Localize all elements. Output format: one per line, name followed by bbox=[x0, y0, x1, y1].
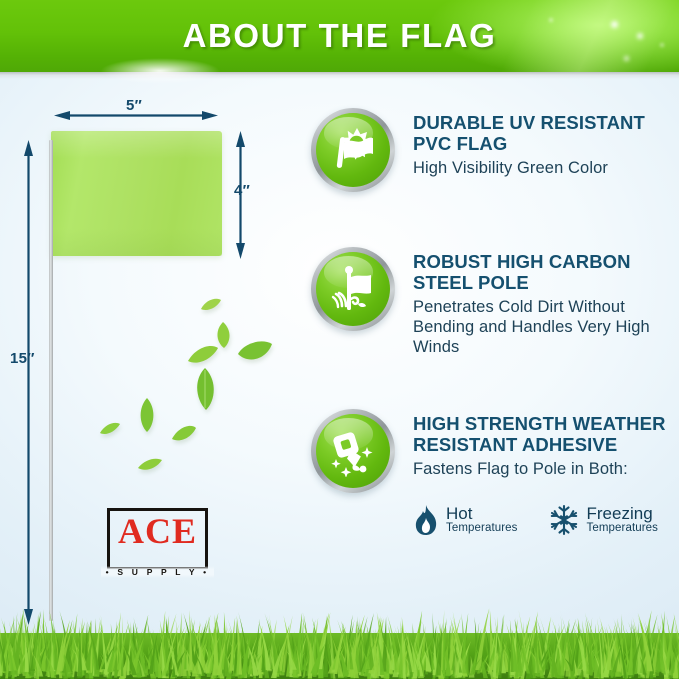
snowflake-icon bbox=[548, 504, 580, 536]
sparkle-icon bbox=[637, 33, 643, 39]
ace-supply-logo: ACE • S U P P L Y • bbox=[107, 508, 208, 570]
temperature-text: Hot Temperatures bbox=[446, 505, 518, 534]
page-title: ABOUT THE FLAG bbox=[183, 17, 497, 55]
feature-subtitle: High Visibility Green Color bbox=[413, 158, 645, 178]
feature-text: DURABLE UV RESISTANT PVC FLAG High Visib… bbox=[395, 108, 645, 178]
flagpole-wind-icon bbox=[327, 263, 379, 315]
temperature-subtitle: Temperatures bbox=[587, 523, 659, 535]
feature-title-line1: HIGH STRENGTH WEATHER bbox=[413, 413, 666, 434]
feature-item: ROBUST HIGH CARBON STEEL POLE Penetrates… bbox=[311, 247, 679, 357]
feature-title-line2: PVC FLAG bbox=[413, 133, 507, 154]
feature-subtitle: Penetrates Cold Dirt Without Bending and… bbox=[413, 297, 679, 357]
pole-dimension-arrow bbox=[24, 140, 33, 625]
temperature-subtitle: Temperatures bbox=[446, 523, 518, 535]
leaf-icon bbox=[200, 298, 222, 312]
feature-badge bbox=[311, 247, 395, 331]
header-sheen bbox=[489, 0, 679, 72]
width-label: 5″ bbox=[126, 97, 142, 114]
temperature-title: Hot bbox=[446, 505, 518, 522]
feature-item: HIGH STRENGTH WEATHER RESISTANT ADHESIVE… bbox=[311, 409, 679, 493]
feature-title-line1: ROBUST HIGH CARBON bbox=[413, 251, 631, 272]
feature-title-line2: RESISTANT ADHESIVE bbox=[413, 434, 617, 455]
feature-badge bbox=[311, 108, 395, 192]
feature-title-line2: STEEL POLE bbox=[413, 272, 529, 293]
feature-subtitle: Fastens Flag to Pole in Both: bbox=[413, 459, 666, 479]
feature-text: ROBUST HIGH CARBON STEEL POLE Penetrates… bbox=[395, 247, 679, 357]
temperature-hot: Hot Temperatures bbox=[413, 504, 518, 536]
badge-inner bbox=[316, 414, 390, 488]
glue-bottle-icon bbox=[327, 425, 379, 477]
leaf-icon bbox=[100, 422, 120, 436]
feature-item: DURABLE UV RESISTANT PVC FLAG High Visib… bbox=[311, 108, 679, 192]
temperature-text: Freezing Temperatures bbox=[587, 505, 659, 534]
leaf-icon bbox=[238, 340, 272, 366]
flame-icon bbox=[413, 505, 439, 535]
sparkle-icon bbox=[549, 18, 553, 22]
feature-title-line1: DURABLE UV RESISTANT bbox=[413, 112, 645, 133]
sparkle-icon bbox=[611, 21, 618, 28]
feature-badge bbox=[311, 409, 395, 493]
temperature-freezing: Freezing Temperatures bbox=[548, 504, 659, 536]
flag-illustration bbox=[51, 131, 222, 256]
sparkle-icon bbox=[624, 56, 629, 61]
badge-inner bbox=[316, 113, 390, 187]
feature-text: HIGH STRENGTH WEATHER RESISTANT ADHESIVE… bbox=[395, 409, 666, 479]
logo-tagline: • S U P P L Y • bbox=[101, 566, 214, 578]
grass-strip bbox=[0, 593, 679, 679]
temperature-row: Hot Temperatures bbox=[311, 504, 679, 536]
leaf-icon bbox=[188, 345, 218, 365]
infographic-canvas: ABOUT THE FLAG 5″ 4″ 15″ bbox=[0, 0, 679, 679]
leaf-icon bbox=[172, 425, 196, 443]
flag-sun-icon bbox=[327, 124, 379, 176]
badge-inner bbox=[316, 252, 390, 326]
grass-blades bbox=[0, 593, 679, 679]
feature-list: DURABLE UV RESISTANT PVC FLAG High Visib… bbox=[311, 108, 679, 536]
flag-pole-illustration bbox=[49, 140, 53, 621]
temperature-title: Freezing bbox=[587, 505, 659, 522]
leaf-icon bbox=[192, 368, 218, 410]
sparkle-icon bbox=[660, 43, 664, 47]
leaf-icon bbox=[137, 398, 157, 432]
pole-length-label: 15″ bbox=[10, 350, 35, 367]
logo-brand: ACE bbox=[107, 511, 208, 551]
header-flare bbox=[100, 58, 220, 84]
height-label: 4″ bbox=[234, 182, 250, 199]
leaf-icon bbox=[138, 458, 162, 472]
